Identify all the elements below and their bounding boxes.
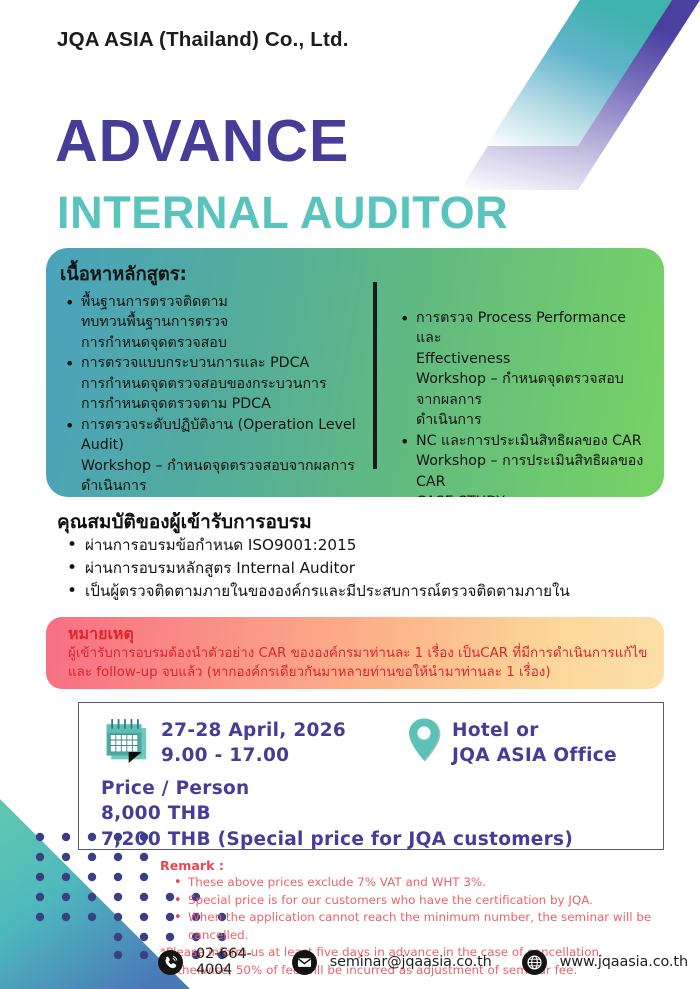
item-line: Workshop – การประเมินสิทธิผลของ CAR <box>416 451 648 492</box>
location-pin-icon <box>408 717 442 763</box>
footer-contacts: 02-664-4004 seminar@jqaasia.co.th www.jq… <box>158 946 688 978</box>
envelope-icon <box>292 950 317 975</box>
globe-icon <box>522 950 547 975</box>
list-item: การตรวจ Process Performance และ Effectiv… <box>395 308 648 431</box>
price-standard: 8,000 THB <box>101 801 663 826</box>
contact-phone[interactable]: 02-664-4004 <box>158 946 262 978</box>
date-time-block: 27-28 April, 2026 9.00 - 17.00 <box>161 715 346 768</box>
item-line: การกำหนดจุดตรวจสอบ <box>81 333 363 353</box>
list-item: พื้นฐานการตรวจติดตาม ทบทวนพื้นฐานการตรวจ… <box>60 292 363 353</box>
phone-icon <box>158 950 183 975</box>
item-line: ทบทวนพื้นฐานการตรวจ <box>81 312 363 332</box>
page-title-main: ADVANCE <box>55 112 349 171</box>
course-content-left-list: พื้นฐานการตรวจติดตาม ทบทวนพื้นฐานการตรวจ… <box>60 292 363 496</box>
page-title-sub: INTERNAL AUDITOR <box>57 190 508 235</box>
item-line: พื้นฐานการตรวจติดตาม <box>81 294 228 310</box>
price-block: Price / Person 8,000 THB 7,200 THB (Spec… <box>79 768 663 851</box>
note-line: และ follow-up จบแล้ว (หากองค์กรเดียวกันม… <box>68 663 649 682</box>
info-box: 27-28 April, 2026 9.00 - 17.00 Hotel or … <box>78 702 664 850</box>
poster-root: JQA ASIA (Thailand) Co., Ltd. ADVANCE IN… <box>0 0 700 989</box>
note-line: ผู้เข้ารับการอบรมต้องนำตัวอย่าง CAR ของอ… <box>68 644 649 663</box>
phone-number: 02-664-4004 <box>196 946 262 978</box>
list-item: ผ่านการอบรมหลักสูตร Internal Auditor <box>63 557 663 580</box>
list-item: การตรวจระดับปฏิบัติงาน (Operation Level … <box>60 415 363 497</box>
event-time: 9.00 - 17.00 <box>161 744 346 769</box>
note-title: หมายเหตุ <box>68 624 649 643</box>
item-line: การตรวจระดับปฏิบัติงาน (Operation Level <box>81 417 356 433</box>
course-content-right-list: การตรวจ Process Performance และ Effectiv… <box>395 308 648 497</box>
location-line-1: Hotel or <box>452 719 617 744</box>
company-name: JQA ASIA (Thailand) Co., Ltd. <box>57 28 349 52</box>
item-line: Workshop – กำหนดจุดตรวจสอบจากผลการ <box>81 456 363 476</box>
list-item: ผ่านการอบรมข้อกำหนด ISO9001:2015 <box>63 534 663 557</box>
item-line: Audit) <box>81 435 363 455</box>
note-box: หมายเหตุ ผู้เข้ารับการอบรมต้องนำตัวอย่าง… <box>46 617 664 689</box>
list-item: NC และการประเมินสิทธิผลของ CAR Workshop … <box>395 431 648 492</box>
website-url: www.jqaasia.co.th <box>560 954 688 970</box>
item-line: การตรวจแบบกระบวนการและ PDCA <box>81 355 309 371</box>
item-line: ดำเนินการ <box>416 410 648 430</box>
item-line: การกำหนดจุดตรวจสอบของกระบวนการ <box>81 374 363 394</box>
price-label: Price / Person <box>101 776 663 801</box>
item-line: การตรวจ Process Performance และ <box>416 310 626 346</box>
contact-email[interactable]: seminar@jqaasia.co.th <box>292 950 492 975</box>
location-block: Hotel or JQA ASIA Office <box>452 715 617 768</box>
contact-website[interactable]: www.jqaasia.co.th <box>522 950 688 975</box>
list-item: When the application cannot reach the mi… <box>174 909 680 944</box>
price-special: 7,200 THB (Special price for JQA custome… <box>101 827 663 852</box>
chevron-ribbon-decoration <box>460 0 700 190</box>
list-item: เป็นผู้ตรวจติดตามภายในขององค์กรและมีประส… <box>63 580 663 603</box>
list-item: Special price is for our customers who h… <box>174 892 680 910</box>
course-content-left-column: เนื้อหาหลักสูตร: พื้นฐานการตรวจติดตาม ทบ… <box>60 260 371 487</box>
remark-list: These above prices exclude 7% VAT and WH… <box>160 874 680 944</box>
calendar-icon <box>101 717 149 763</box>
remark-title: Remark : <box>160 858 680 873</box>
email-address: seminar@jqaasia.co.th <box>330 954 492 970</box>
list-item: These above prices exclude 7% VAT and WH… <box>174 874 680 892</box>
qualifications-heading: คุณสมบัติของผู้เข้ารับการอบรม <box>57 507 312 537</box>
course-content-heading: เนื้อหาหลักสูตร: <box>60 260 363 289</box>
item-line: การกำหนดจุดตรวจตาม PDCA <box>81 394 363 414</box>
item-line: Effectiveness <box>416 349 648 369</box>
item-line: CASE STUDY <box>416 494 505 497</box>
event-date: 27-28 April, 2026 <box>161 719 346 744</box>
item-line: ดำเนินการ <box>81 476 363 496</box>
course-content-box: เนื้อหาหลักสูตร: พื้นฐานการตรวจติดตาม ทบ… <box>46 248 664 497</box>
location-line-2: JQA ASIA Office <box>452 744 617 769</box>
item-line: NC และการประเมินสิทธิผลของ CAR <box>416 433 642 449</box>
list-item: การตรวจแบบกระบวนการและ PDCA การกำหนดจุดต… <box>60 353 363 414</box>
qualifications-list: ผ่านการอบรมข้อกำหนด ISO9001:2015 ผ่านการ… <box>63 534 663 603</box>
item-line: Workshop – กำหนดจุดตรวจสอบจากผลการ <box>416 369 648 410</box>
info-row-date-place: 27-28 April, 2026 9.00 - 17.00 Hotel or … <box>79 715 663 768</box>
list-item: CASE STUDY กำหนดจุดตรวจจากคำสัมภาษณ์ผู้บ… <box>395 492 648 497</box>
course-content-right-column: การตรวจ Process Performance และ Effectiv… <box>373 282 648 469</box>
